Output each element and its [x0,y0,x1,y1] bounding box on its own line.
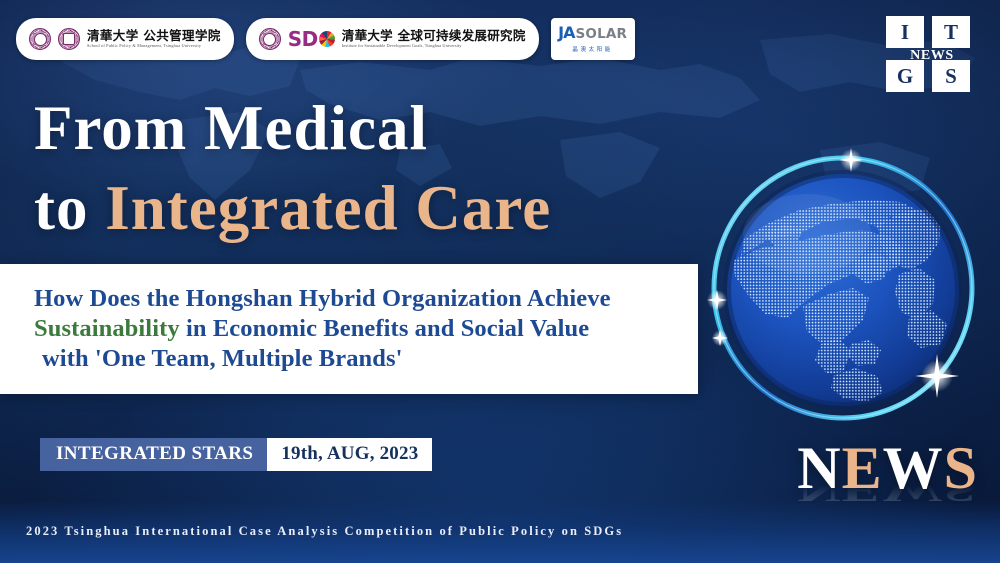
itgs-letter-i: I [886,16,924,48]
subtitle-sustainability: Sustainability [34,315,180,342]
logo-sdg-institute-cn: 清華大学 全球可持续发展研究院 [342,30,526,43]
subtitle-line-3: with 'One Team, Multiple Brands' [34,344,698,374]
itgs-letter-t: T [932,16,970,48]
integrated-stars-badge: INTEGRATED STARS [40,438,267,471]
subtitle-panel: How Does the Hongshan Hybrid Organizatio… [0,264,698,394]
news-word-reflection: NEWS [797,480,978,501]
university-seal-icon [58,28,80,50]
sparkle-icon [707,290,727,310]
event-date-badge: 19th, AUG, 2023 [267,438,432,471]
headline-line-1: From Medical [34,88,551,168]
ja-solar-solar: SOLAR [575,26,627,42]
headline-line-2: to Integrated Care [34,168,551,248]
logo-sdg-institute-en: Institute for Sustainable Development Go… [342,44,526,48]
logo-ja-solar: JASOLAR 晶澳太阳能 [551,18,635,60]
sdg-wordmark: SD [288,27,335,51]
logo-tsinghua-sppm-cn: 清華大学 公共管理学院 [87,30,221,43]
sdg-letters: SD [288,27,318,51]
ja-solar-ja: JA [558,23,574,42]
itgs-letter-g: G [886,60,924,92]
sponsor-logo-bar: 清華大学 公共管理学院 School of Public Policy & Ma… [16,18,635,60]
university-seal-icon [259,28,281,50]
subtitle-line-2-rest: in Economic Benefits and Social Value [180,315,589,342]
headline-block: From Medical to Integrated Care [34,88,551,248]
university-seal-icon [29,28,51,50]
itgs-letter-s: S [932,60,970,92]
headline-line-2-prefix: to [34,173,105,243]
headline-line-2-accent: Integrated Care [105,173,551,243]
news-poster: 清華大学 公共管理学院 School of Public Policy & Ma… [0,0,1000,563]
sdg-color-wheel-icon [319,31,335,47]
itgs-news-logo: I T NEWS G S [886,10,978,94]
logo-tsinghua-sdg-institute: SD 清華大学 全球可持续发展研究院 Institute for Sustain… [246,18,539,60]
news-wordmark: NEWS NEWS [797,437,978,539]
subtitle-line-2: Sustainability in Economic Benefits and … [34,314,698,344]
logo-tsinghua-sppm-en: School of Public Policy & Management, Ts… [87,44,221,48]
footer-caption: 2023 Tsinghua International Case Analysi… [26,524,623,539]
event-badge-row: INTEGRATED STARS 19th, AUG, 2023 [40,438,432,471]
logo-tsinghua-sppm: 清華大学 公共管理学院 School of Public Policy & Ma… [16,18,234,60]
subtitle-line-1: How Does the Hongshan Hybrid Organizatio… [34,284,698,314]
globe-graphic [703,148,983,426]
sparkle-icon [712,330,728,346]
ja-solar-cn: 晶澳太阳能 [572,45,613,53]
